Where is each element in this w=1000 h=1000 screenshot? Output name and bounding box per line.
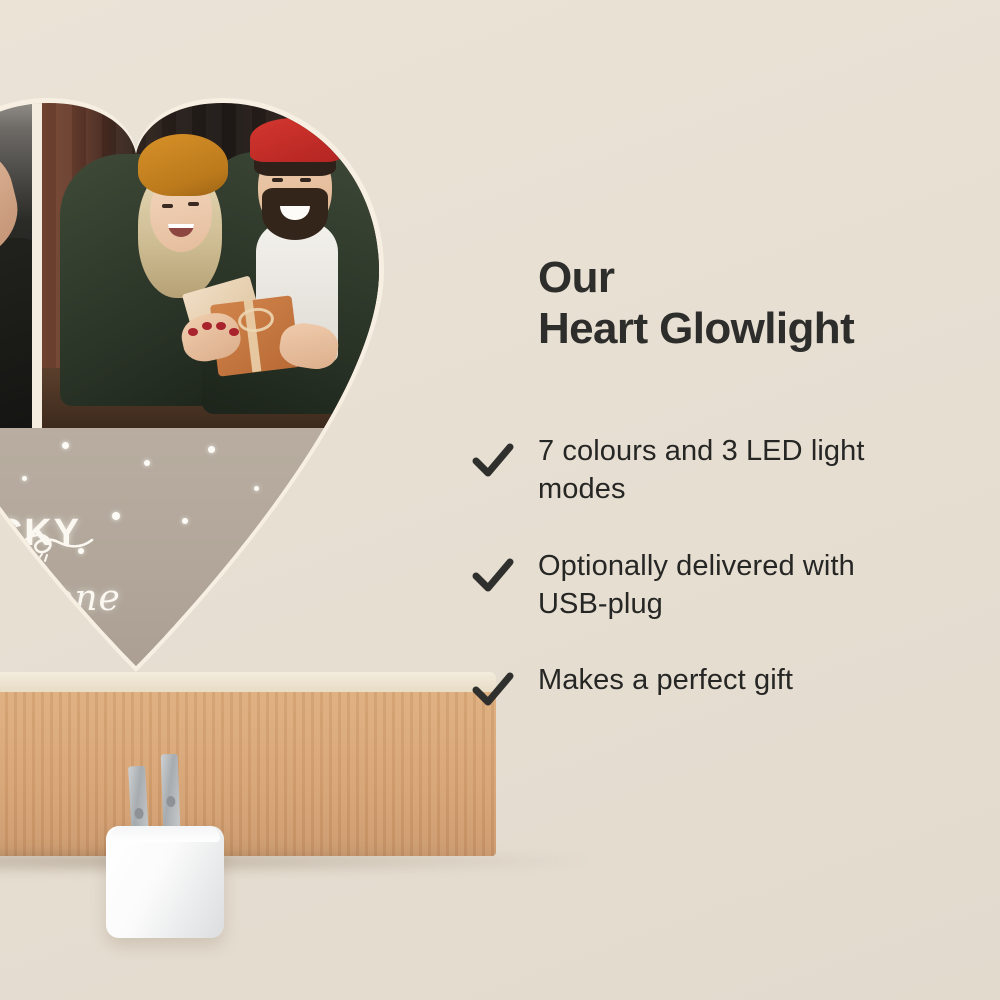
nail-polish [188, 328, 198, 336]
heart-photo-row [0, 72, 390, 428]
engraved-text-panel: I AM O LUCKY ve someone LIKE YOU [0, 428, 390, 672]
sparkle-dot [144, 460, 150, 466]
check-icon [470, 438, 516, 482]
plug-prong [161, 754, 181, 829]
man-eye [272, 178, 283, 182]
feature-item-usb-plug: Optionally delivered with USB-plug [470, 547, 940, 624]
woman-eye [162, 204, 173, 208]
sparkle-dot [254, 486, 259, 491]
sparkle-dot [78, 548, 84, 554]
sparkle-dot [62, 442, 69, 449]
sparkle-dot [22, 476, 27, 481]
plug-top-face [110, 826, 220, 842]
photo-divider [32, 72, 42, 428]
plug-body [106, 826, 224, 938]
photo-left-clothing [0, 238, 32, 428]
headline-line-1: Our [538, 253, 614, 302]
base-front-face [0, 692, 496, 856]
feature-item-colours: 7 colours and 3 LED light modes [470, 432, 940, 509]
product-feature-banner: I AM O LUCKY ve someone LIKE YOU [0, 0, 1000, 1000]
wooden-base [0, 672, 496, 858]
feature-label: Optionally delivered with USB-plug [538, 547, 898, 624]
heart-glowlight-panel: I AM O LUCKY ve someone LIKE YOU [0, 72, 390, 672]
man-eye [300, 178, 311, 182]
headline-line-2: Heart Glowlight [538, 303, 958, 354]
copy-block: Our Heart Glowlight [538, 252, 958, 354]
base-top-surface [0, 672, 496, 694]
page-title: Our Heart Glowlight [538, 252, 958, 354]
feature-label: Makes a perfect gift [538, 661, 793, 699]
check-icon [470, 553, 516, 597]
sparkle-dot [112, 512, 120, 520]
usb-power-plug [106, 748, 226, 938]
sparkle-dot [208, 446, 215, 453]
sparkle-dot [182, 518, 188, 524]
feature-list: 7 colours and 3 LED light modes Optional… [470, 432, 940, 711]
photo-hand-left [0, 72, 32, 428]
nail-polish [229, 328, 239, 336]
nail-polish [202, 322, 212, 330]
woman-eye [188, 202, 199, 206]
feature-label: 7 colours and 3 LED light modes [538, 432, 898, 509]
woman-beanie [138, 134, 228, 196]
nail-polish [216, 322, 226, 330]
check-icon [470, 667, 516, 711]
feature-item-gift: Makes a perfect gift [470, 661, 940, 711]
engraved-line-4: LIKE YOU [0, 638, 72, 672]
base-shadow [0, 848, 590, 874]
photo-couple-right [42, 72, 390, 428]
